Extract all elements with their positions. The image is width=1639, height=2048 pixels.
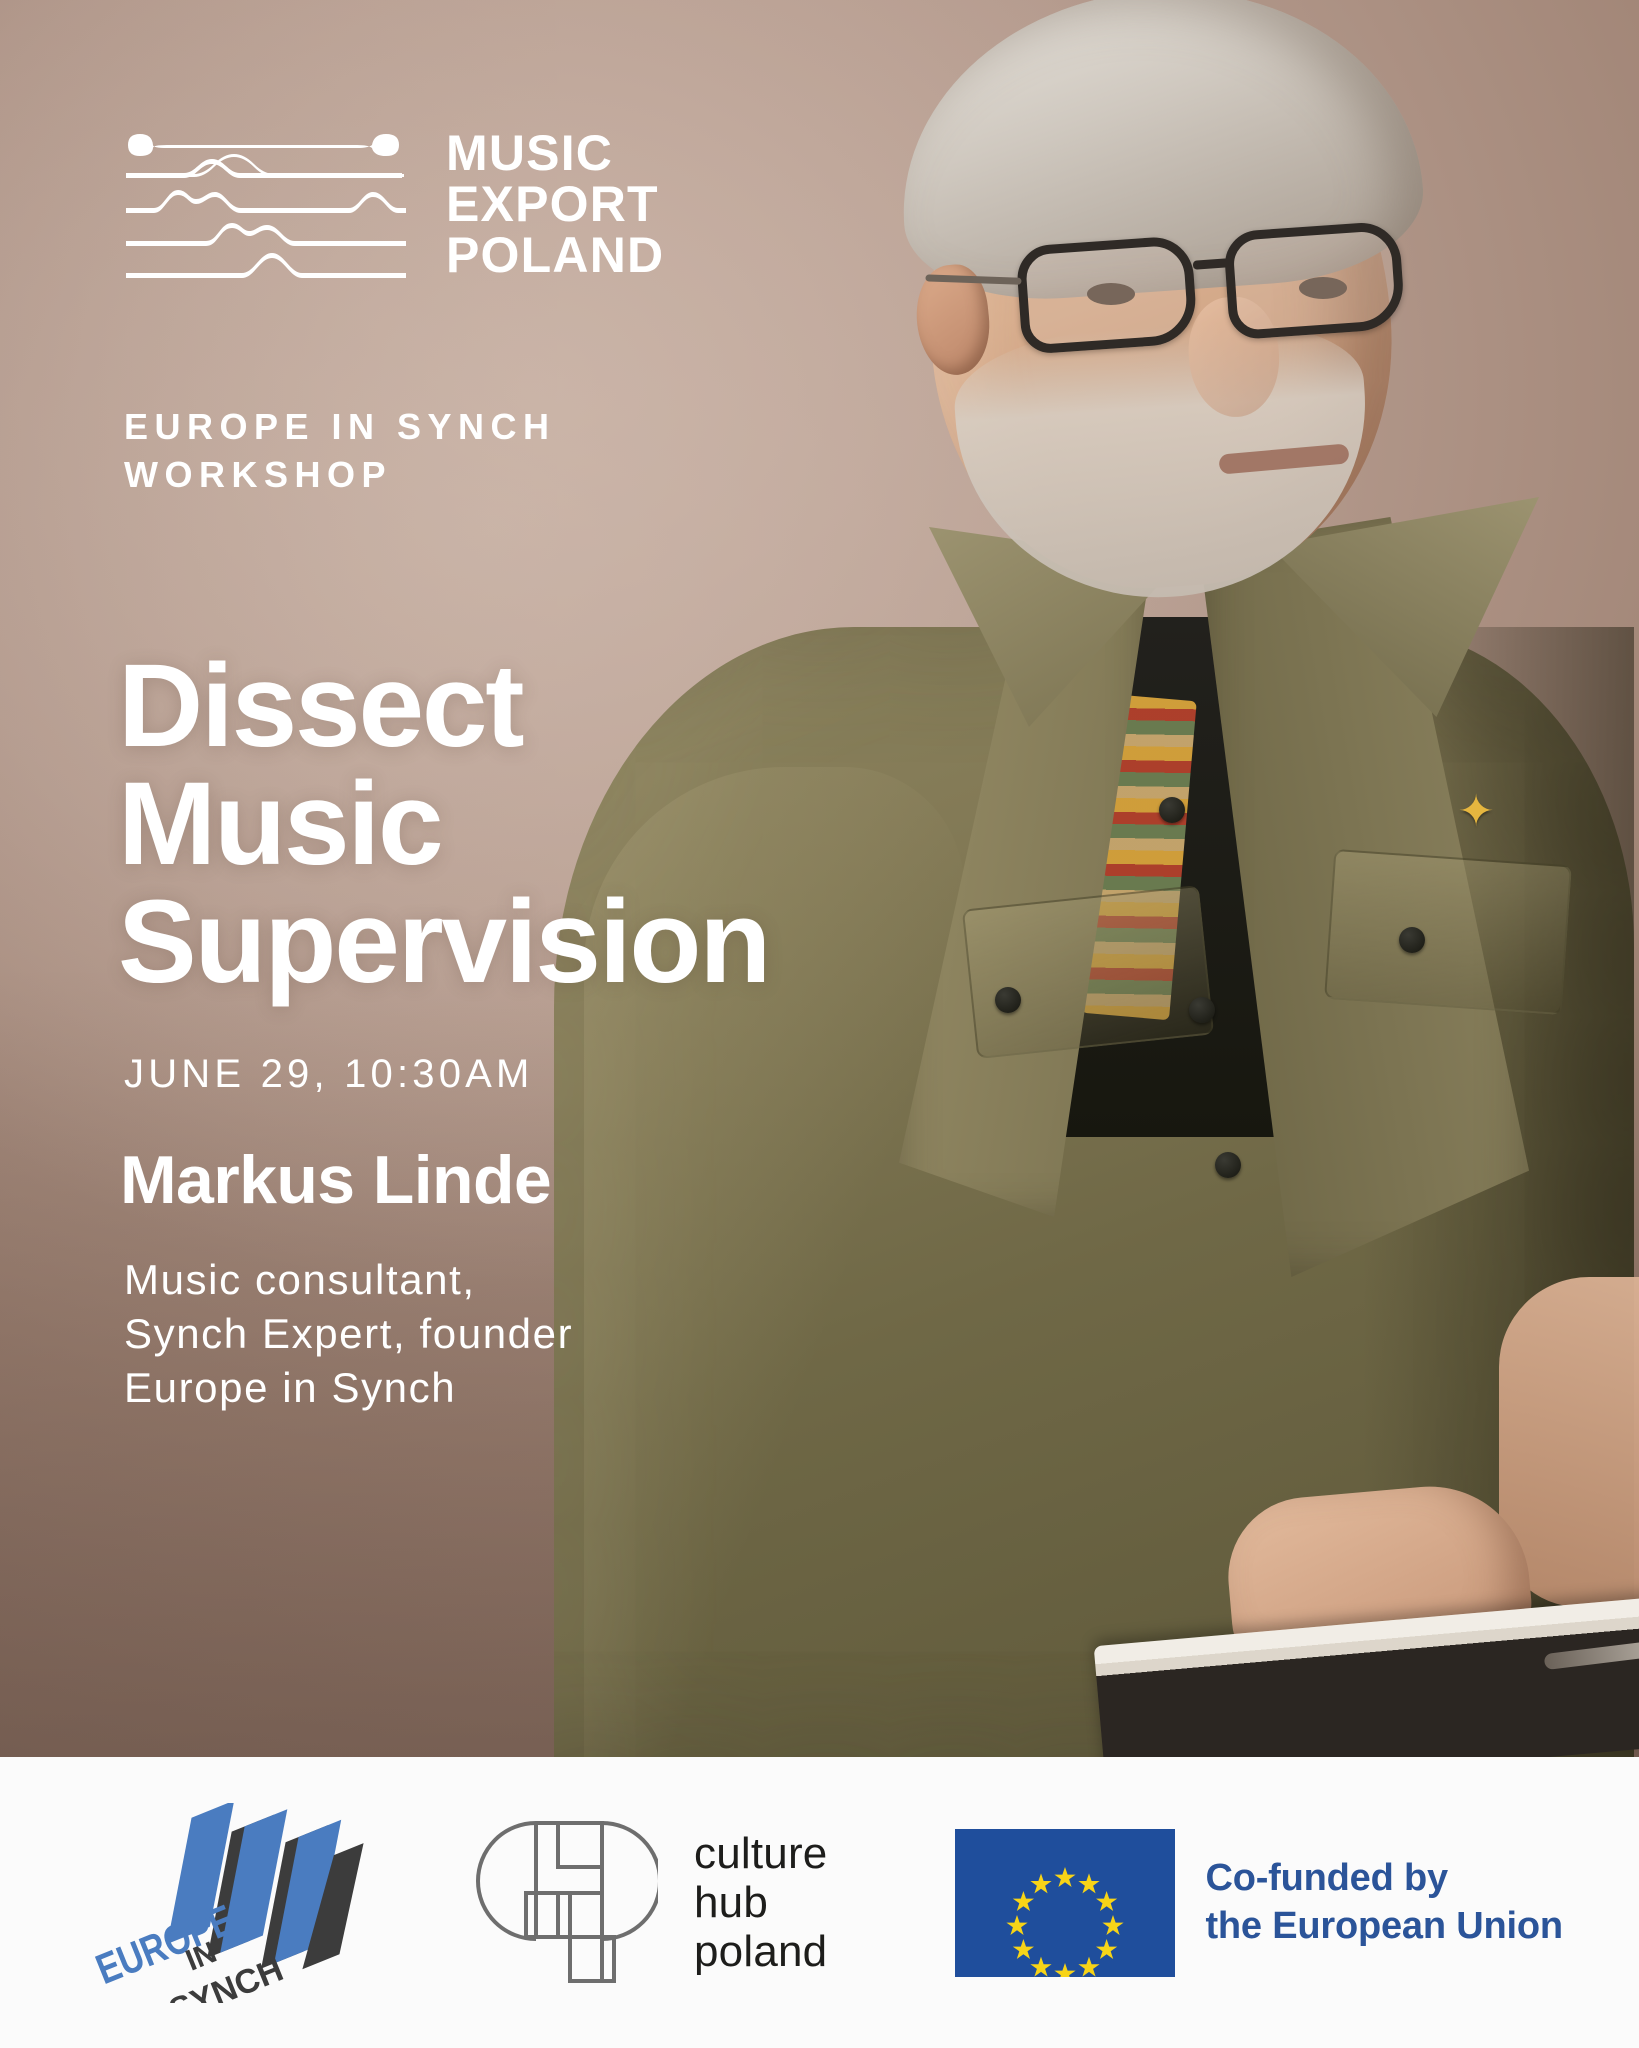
jacket-button (1215, 1152, 1241, 1178)
poster: ✦ (0, 0, 1639, 2048)
eu-funding-text: Co-funded by the European Union (1205, 1855, 1562, 1949)
jacket-pocket-left (962, 885, 1214, 1059)
european-union-logo: Co-funded by the European Union (955, 1829, 1562, 1977)
music-export-poland-logo: MUSIC EXPORT POLAND (124, 128, 664, 281)
event-datetime: JUNE 29, 10:30AM (124, 1052, 534, 1097)
chp-monogram-icon (458, 1815, 658, 1991)
jacket-button (1189, 997, 1215, 1023)
lens-left (1015, 235, 1198, 355)
lapel-pin-icon: ✦ (1439, 792, 1513, 832)
speaker-role: Music consultant, Synch Expert, founder … (124, 1253, 573, 1414)
culture-hub-poland-wordmark: culture hub poland (694, 1829, 827, 1977)
brand-wordmark: MUSIC EXPORT POLAND (446, 128, 664, 281)
speaker-name: Markus Linde (120, 1141, 551, 1219)
jacket-button (1159, 797, 1185, 823)
jacket-pocket-right (1324, 849, 1572, 1015)
jacket-button (995, 987, 1021, 1013)
glasses-bridge (1193, 258, 1230, 269)
event-kicker: EUROPE IN SYNCH WORKSHOP (124, 403, 556, 498)
europe-in-synch-icon: EUROPE IN SYNCH (76, 1803, 376, 2003)
jacket-button (1399, 927, 1425, 953)
page-title: Dissect Music Supervision (118, 647, 769, 1001)
culture-hub-poland-logo: culture hub poland (458, 1815, 827, 1991)
partner-footer: EUROPE IN SYNCH (0, 1757, 1639, 2048)
lens-right (1223, 220, 1406, 340)
eu-flag-icon (955, 1829, 1175, 1977)
waveform-icon (124, 131, 406, 279)
europe-in-synch-logo: EUROPE IN SYNCH (76, 1803, 376, 2003)
